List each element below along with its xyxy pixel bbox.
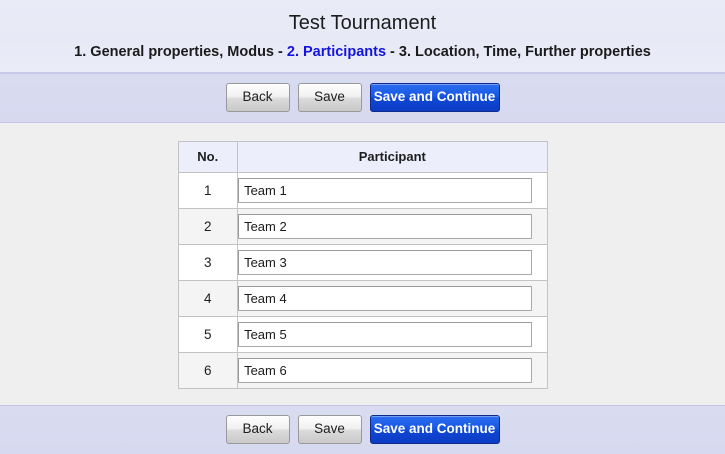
column-header-participant: Participant (238, 142, 547, 173)
participant-cell (238, 209, 547, 245)
table-row: 3 (178, 245, 547, 281)
page-header: Test Tournament 1. General properties, M… (0, 0, 725, 73)
row-number: 1 (178, 173, 238, 209)
save-and-continue-button[interactable]: Save and Continue (370, 415, 500, 444)
table-row: 2 (178, 209, 547, 245)
breadcrumb: 1. General properties, Modus - 2. Partic… (0, 42, 725, 72)
participant-input[interactable] (238, 322, 532, 347)
save-button[interactable]: Save (298, 83, 362, 112)
breadcrumb-separator-2: - (386, 44, 399, 60)
toolbar-bottom: BackSaveSave and Continue (0, 405, 725, 454)
table-head: No. Participant (178, 142, 547, 173)
toolbar-top: BackSaveSave and Continue (0, 73, 725, 123)
table-row: 1 (178, 173, 547, 209)
participant-input[interactable] (238, 178, 532, 203)
participant-cell (238, 173, 547, 209)
row-number: 6 (178, 353, 238, 389)
participant-cell (238, 245, 547, 281)
row-number: 4 (178, 281, 238, 317)
breadcrumb-step-1[interactable]: 1. General properties, Modus (74, 44, 274, 60)
participant-cell (238, 353, 547, 389)
participant-input[interactable] (238, 214, 532, 239)
save-button[interactable]: Save (298, 415, 362, 444)
table-row: 5 (178, 317, 547, 353)
table-row: 4 (178, 281, 547, 317)
breadcrumb-step-3[interactable]: 3. Location, Time, Further properties (399, 44, 651, 60)
participant-input[interactable] (238, 286, 532, 311)
back-button[interactable]: Back (226, 415, 290, 444)
row-number: 3 (178, 245, 238, 281)
breadcrumb-separator-1: - (274, 44, 287, 60)
main-content: No. Participant 1 2 3 (0, 123, 725, 405)
participant-cell (238, 281, 547, 317)
participants-table: No. Participant 1 2 3 (178, 141, 548, 389)
column-header-no: No. (178, 142, 238, 173)
participant-input[interactable] (238, 250, 532, 275)
row-number: 2 (178, 209, 238, 245)
table-row: 6 (178, 353, 547, 389)
back-button[interactable]: Back (226, 83, 290, 112)
participant-input[interactable] (238, 358, 532, 383)
row-number: 5 (178, 317, 238, 353)
table-header-row: No. Participant (178, 142, 547, 173)
table-body: 1 2 3 4 (178, 173, 547, 389)
save-and-continue-button[interactable]: Save and Continue (370, 83, 500, 112)
page-title: Test Tournament (0, 10, 725, 42)
participant-cell (238, 317, 547, 353)
breadcrumb-step-2-current[interactable]: 2. Participants (287, 44, 386, 60)
